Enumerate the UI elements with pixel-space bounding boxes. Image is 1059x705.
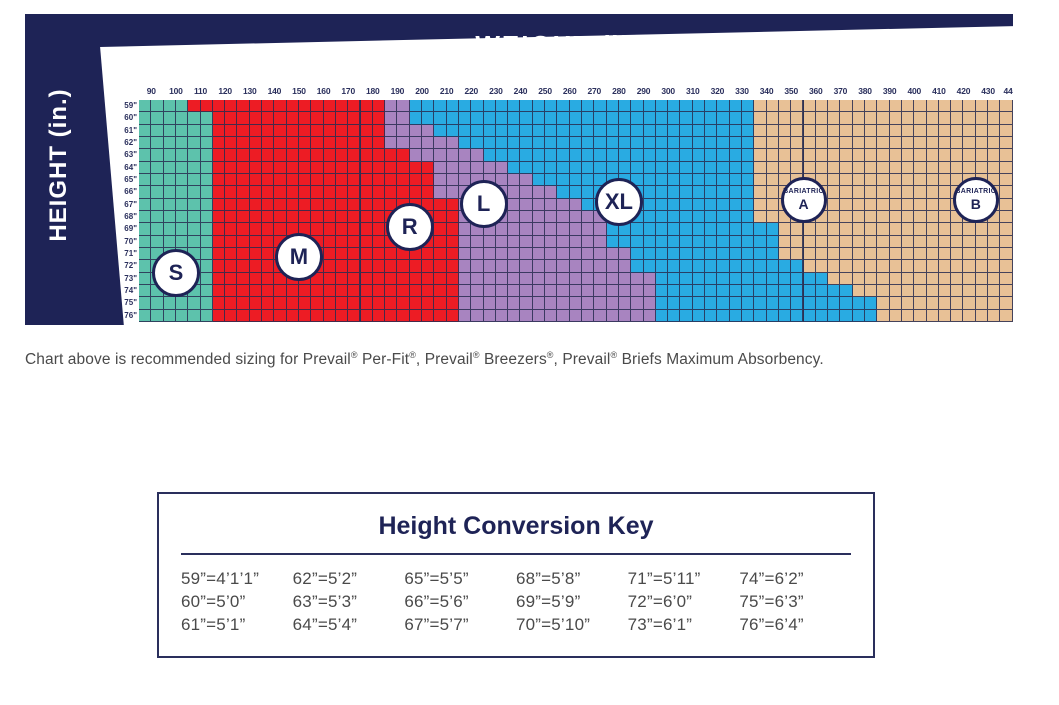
grid-cell — [828, 273, 840, 285]
grid-cell — [471, 310, 483, 322]
grid-cell — [471, 100, 483, 112]
badge-sublabel: BARIATRIC — [955, 188, 996, 195]
grid-cell — [336, 223, 348, 235]
grid-cell — [533, 112, 545, 124]
grid-cell — [877, 125, 889, 137]
grid-cell — [373, 174, 385, 186]
grid-cell — [754, 186, 766, 198]
grid-cell — [237, 186, 249, 198]
grid-cell — [754, 100, 766, 112]
grid-cell — [963, 310, 975, 322]
grid-cell — [742, 310, 754, 322]
grid-cell — [988, 310, 1000, 322]
grid-cell — [533, 199, 545, 211]
grid-cell — [680, 112, 692, 124]
grid-cell — [176, 137, 188, 149]
grid-cell — [570, 223, 582, 235]
grid-cell — [262, 199, 274, 211]
grid-cell — [767, 223, 779, 235]
grid-cell — [422, 310, 434, 322]
grid-cell — [361, 162, 373, 174]
grid-cell — [754, 112, 766, 124]
grid-cell — [188, 125, 200, 137]
grid-cell — [594, 310, 606, 322]
grid-cell — [705, 149, 717, 161]
grid-cell — [385, 149, 397, 161]
grid-cell — [767, 112, 779, 124]
grid-cell — [668, 125, 680, 137]
height-tick-71: 71" — [124, 248, 137, 260]
grid-cell — [680, 149, 692, 161]
grid-cell — [287, 112, 299, 124]
grid-cell — [779, 100, 791, 112]
grid-cell — [767, 285, 779, 297]
grid-cell — [668, 273, 680, 285]
grid-cell — [434, 285, 446, 297]
grid-cell — [348, 310, 360, 322]
grid-cell — [607, 297, 619, 309]
grid-cell — [237, 149, 249, 161]
grid-cell — [484, 285, 496, 297]
grid-cell — [853, 248, 865, 260]
grid-cell — [853, 137, 865, 149]
grid-cell — [484, 149, 496, 161]
grid-cell — [188, 199, 200, 211]
grid-cell — [188, 137, 200, 149]
grid-cell — [361, 100, 373, 112]
grid-cell — [274, 149, 286, 161]
grid-cell — [927, 297, 939, 309]
grid-cell — [644, 199, 656, 211]
grid-cell — [988, 260, 1000, 272]
grid-cell — [988, 236, 1000, 248]
grid-cell — [287, 162, 299, 174]
grid-cell — [545, 186, 557, 198]
grid-cell — [237, 248, 249, 260]
height-tick-76: 76" — [124, 310, 137, 322]
grid-cell — [508, 149, 520, 161]
grid-cell — [717, 248, 729, 260]
grid-cell — [644, 236, 656, 248]
grid-cell — [520, 310, 532, 322]
grid-cell — [361, 297, 373, 309]
grid-cell — [397, 260, 409, 272]
grid-cell — [717, 223, 729, 235]
grid-cell — [644, 149, 656, 161]
grid-cell — [250, 125, 262, 137]
grid-cell — [533, 297, 545, 309]
weight-tick-90: 90 — [139, 86, 163, 96]
grid-cell — [520, 211, 532, 223]
weight-tick-230: 230 — [484, 86, 508, 96]
grid-cell — [865, 100, 877, 112]
grid-cell — [274, 310, 286, 322]
height-tick-64: 64" — [124, 162, 137, 174]
grid-cell — [914, 199, 926, 211]
grid-cell — [717, 100, 729, 112]
grid-cell — [447, 186, 459, 198]
grid-cell — [914, 137, 926, 149]
grid-cell — [213, 162, 225, 174]
grid-cell — [890, 186, 902, 198]
grid-cell — [385, 162, 397, 174]
grid-cell — [705, 100, 717, 112]
grid-cell — [594, 297, 606, 309]
grid-cell — [299, 310, 311, 322]
grid-cell — [496, 137, 508, 149]
grid-cell — [520, 273, 532, 285]
grid-cell — [336, 199, 348, 211]
grid-cell — [779, 112, 791, 124]
weight-tick-350: 350 — [779, 86, 803, 96]
grid-cell — [988, 137, 1000, 149]
grid-cell — [201, 260, 213, 272]
grid-cell — [951, 297, 963, 309]
grid-cell — [791, 125, 803, 137]
weight-tick-410: 410 — [927, 86, 951, 96]
grid-cell — [237, 199, 249, 211]
badge-sublabel: BARIATRIC — [783, 188, 824, 195]
grid-cell — [656, 100, 668, 112]
grid-cell — [176, 112, 188, 124]
grid-cell — [767, 273, 779, 285]
grid-cell — [693, 174, 705, 186]
grid-cell — [434, 211, 446, 223]
grid-cell — [890, 273, 902, 285]
grid-cell — [201, 149, 213, 161]
key-title: Height Conversion Key — [159, 512, 873, 541]
size-badge-a: BARIATRICA — [781, 177, 827, 223]
badge-label: A — [798, 197, 808, 211]
grid-cell — [668, 137, 680, 149]
grid-cell — [927, 273, 939, 285]
grid-cell — [508, 248, 520, 260]
grid-cell — [557, 310, 569, 322]
grid-cell — [336, 260, 348, 272]
grid-cell — [361, 260, 373, 272]
grid-cell — [299, 100, 311, 112]
grid-cell — [693, 125, 705, 137]
grid-cell — [201, 297, 213, 309]
grid-cell — [816, 100, 828, 112]
badge-label: B — [971, 197, 981, 211]
grid-cell — [939, 199, 951, 211]
grid-cell — [840, 285, 852, 297]
grid-cell — [508, 273, 520, 285]
grid-cell — [804, 285, 816, 297]
grid-cell — [890, 137, 902, 149]
grid-cell — [496, 310, 508, 322]
grid-cell — [804, 125, 816, 137]
grid-cell — [262, 273, 274, 285]
grid-cell — [582, 162, 594, 174]
grid-cell — [902, 310, 914, 322]
grid-cell — [250, 137, 262, 149]
grid-cell — [927, 211, 939, 223]
grid-cell — [951, 285, 963, 297]
weight-tick-420: 420 — [951, 86, 975, 96]
grid-cell — [680, 174, 692, 186]
grid-cell — [976, 100, 988, 112]
grid-cell — [927, 174, 939, 186]
grid-cell — [336, 236, 348, 248]
grid-cell — [311, 100, 323, 112]
grid-cell — [422, 174, 434, 186]
grid-cell — [594, 285, 606, 297]
grid-cell — [496, 100, 508, 112]
grid-cell — [299, 162, 311, 174]
grid-cell — [410, 112, 422, 124]
grid-cell — [274, 211, 286, 223]
grid-cell — [607, 260, 619, 272]
grid-cell — [176, 174, 188, 186]
key-entry: 66”=5’6” — [404, 592, 516, 612]
grid-cell — [447, 211, 459, 223]
grid-cell — [754, 174, 766, 186]
grid-cell — [237, 137, 249, 149]
grid-cell — [447, 260, 459, 272]
grid-cell — [311, 125, 323, 137]
grid-cell — [828, 186, 840, 198]
grid-cell — [471, 112, 483, 124]
grid-cell — [902, 174, 914, 186]
grid-cell — [557, 211, 569, 223]
grid-cell — [865, 297, 877, 309]
grid-cell — [496, 297, 508, 309]
grid-cell — [311, 174, 323, 186]
weight-tick-320: 320 — [705, 86, 729, 96]
height-conversion-key: Height Conversion Key 59”=4’1’1”62”=5’2”… — [157, 492, 875, 658]
grid-cell — [385, 297, 397, 309]
grid-cell — [644, 297, 656, 309]
grid-cell — [164, 112, 176, 124]
grid-cell — [164, 199, 176, 211]
grid-cell — [730, 273, 742, 285]
grid-cell — [201, 248, 213, 260]
grid-cell — [508, 223, 520, 235]
grid-cell — [324, 248, 336, 260]
grid-cell — [840, 174, 852, 186]
grid-cell — [508, 285, 520, 297]
grid-cell — [533, 137, 545, 149]
grid-cell — [705, 248, 717, 260]
grid-cell — [607, 125, 619, 137]
grid-cell — [471, 149, 483, 161]
grid-cell — [250, 112, 262, 124]
grid-cell — [619, 149, 631, 161]
grid-cell — [471, 162, 483, 174]
grid-cell — [139, 285, 151, 297]
grid-cell — [680, 125, 692, 137]
registered-mark: ® — [473, 350, 480, 360]
grid-cell — [570, 273, 582, 285]
grid-cell — [213, 174, 225, 186]
grid-cell — [570, 211, 582, 223]
grid-cell — [348, 137, 360, 149]
grid-cell — [890, 248, 902, 260]
grid-cell — [1000, 211, 1012, 223]
grid-cell — [742, 186, 754, 198]
grid-cell — [730, 248, 742, 260]
grid-cell — [779, 236, 791, 248]
grid-cell — [324, 174, 336, 186]
grid-cell — [582, 273, 594, 285]
weight-tick-130: 130 — [238, 86, 262, 96]
grid-cell — [804, 297, 816, 309]
grid-cell — [656, 285, 668, 297]
grid-cell — [914, 162, 926, 174]
badge-label: XL — [605, 191, 633, 213]
grid-cell — [299, 186, 311, 198]
grid-cell — [311, 310, 323, 322]
grid-cell — [274, 174, 286, 186]
grid-cell — [471, 236, 483, 248]
grid-cell — [594, 236, 606, 248]
grid-cell — [287, 285, 299, 297]
grid-cell — [176, 199, 188, 211]
grid-cell — [717, 310, 729, 322]
grid-cell — [164, 236, 176, 248]
grid-cell — [139, 199, 151, 211]
grid-cell — [631, 260, 643, 272]
grid-cell — [828, 100, 840, 112]
grid-cell — [410, 125, 422, 137]
grid-cell — [828, 162, 840, 174]
grid-cell — [361, 285, 373, 297]
grid-cell — [877, 273, 889, 285]
grid-cell — [410, 273, 422, 285]
grid-cell — [742, 211, 754, 223]
grid-cell — [816, 162, 828, 174]
grid-cell — [385, 186, 397, 198]
weight-tick-340: 340 — [755, 86, 779, 96]
grid-cell — [373, 162, 385, 174]
grid-cell — [631, 297, 643, 309]
grid-cell — [164, 149, 176, 161]
grid-cell — [656, 223, 668, 235]
weight-tick-250: 250 — [533, 86, 557, 96]
grid-cell — [570, 137, 582, 149]
grid-cell — [607, 236, 619, 248]
grid-cell — [139, 260, 151, 272]
grid-cell — [582, 310, 594, 322]
grid-cell — [742, 125, 754, 137]
grid-cell — [274, 297, 286, 309]
grid-cell — [890, 223, 902, 235]
grid-cell — [767, 186, 779, 198]
key-entry: 59”=4’1’1” — [181, 569, 293, 589]
grid-cell — [791, 273, 803, 285]
grid-cell — [397, 125, 409, 137]
grid-cell — [594, 260, 606, 272]
grid-cell — [680, 297, 692, 309]
grid-cell — [939, 186, 951, 198]
grid-cell — [213, 100, 225, 112]
grid-cell — [471, 137, 483, 149]
grid-cell — [164, 137, 176, 149]
key-entry: 60”=5’0” — [181, 592, 293, 612]
grid-cell — [459, 100, 471, 112]
grid-cell — [951, 310, 963, 322]
grid-cell — [262, 174, 274, 186]
grid-cell — [767, 149, 779, 161]
grid-cell — [914, 248, 926, 260]
grid-cell — [262, 186, 274, 198]
grid-cell — [644, 273, 656, 285]
grid-cell — [434, 100, 446, 112]
height-tick-62: 62" — [124, 137, 137, 149]
grid-cell — [459, 310, 471, 322]
grid-cell — [570, 112, 582, 124]
grid-cell — [459, 112, 471, 124]
grid-cell — [988, 149, 1000, 161]
grid-cell — [151, 100, 163, 112]
weight-tick-280: 280 — [607, 86, 631, 96]
grid-cell — [237, 260, 249, 272]
grid-cell — [237, 223, 249, 235]
grid-cell — [853, 112, 865, 124]
grid-cell — [484, 162, 496, 174]
grid-cell — [619, 260, 631, 272]
grid-cell — [828, 112, 840, 124]
grid-cell — [237, 310, 249, 322]
grid-cell — [828, 248, 840, 260]
grid-cell — [520, 125, 532, 137]
grid-cell — [336, 248, 348, 260]
grid-cell — [397, 297, 409, 309]
grid-cell — [287, 125, 299, 137]
grid-cell — [890, 125, 902, 137]
grid-cell — [447, 100, 459, 112]
grid-cell — [237, 174, 249, 186]
grid-cell — [151, 211, 163, 223]
grid-cell — [496, 285, 508, 297]
grid-cell — [459, 248, 471, 260]
grid-cell — [828, 236, 840, 248]
grid-cell — [668, 211, 680, 223]
grid-cell — [828, 199, 840, 211]
weight-tick-300: 300 — [656, 86, 680, 96]
grid-cell — [853, 236, 865, 248]
grid-cell — [791, 248, 803, 260]
grid-cell — [287, 149, 299, 161]
grid-cell — [324, 285, 336, 297]
grid-cell — [508, 137, 520, 149]
grid-cell — [139, 100, 151, 112]
grid-cell — [791, 223, 803, 235]
grid-cell — [262, 137, 274, 149]
grid-cell — [804, 236, 816, 248]
grid-cell — [397, 112, 409, 124]
key-entry: 74”=6’2” — [739, 569, 851, 589]
grid-cell — [619, 162, 631, 174]
grid-cell — [533, 149, 545, 161]
grid-cell — [951, 236, 963, 248]
grid-cell — [853, 211, 865, 223]
key-entry: 64”=5’4” — [293, 615, 405, 635]
grid-cell — [963, 297, 975, 309]
grid-cell — [533, 174, 545, 186]
grid-cell — [754, 310, 766, 322]
grid-cell — [520, 285, 532, 297]
grid-cell — [373, 310, 385, 322]
grid-cell — [533, 223, 545, 235]
grid-cell — [927, 248, 939, 260]
grid-cell — [582, 149, 594, 161]
grid-cell — [213, 112, 225, 124]
grid-cell — [397, 162, 409, 174]
grid-cell — [545, 211, 557, 223]
